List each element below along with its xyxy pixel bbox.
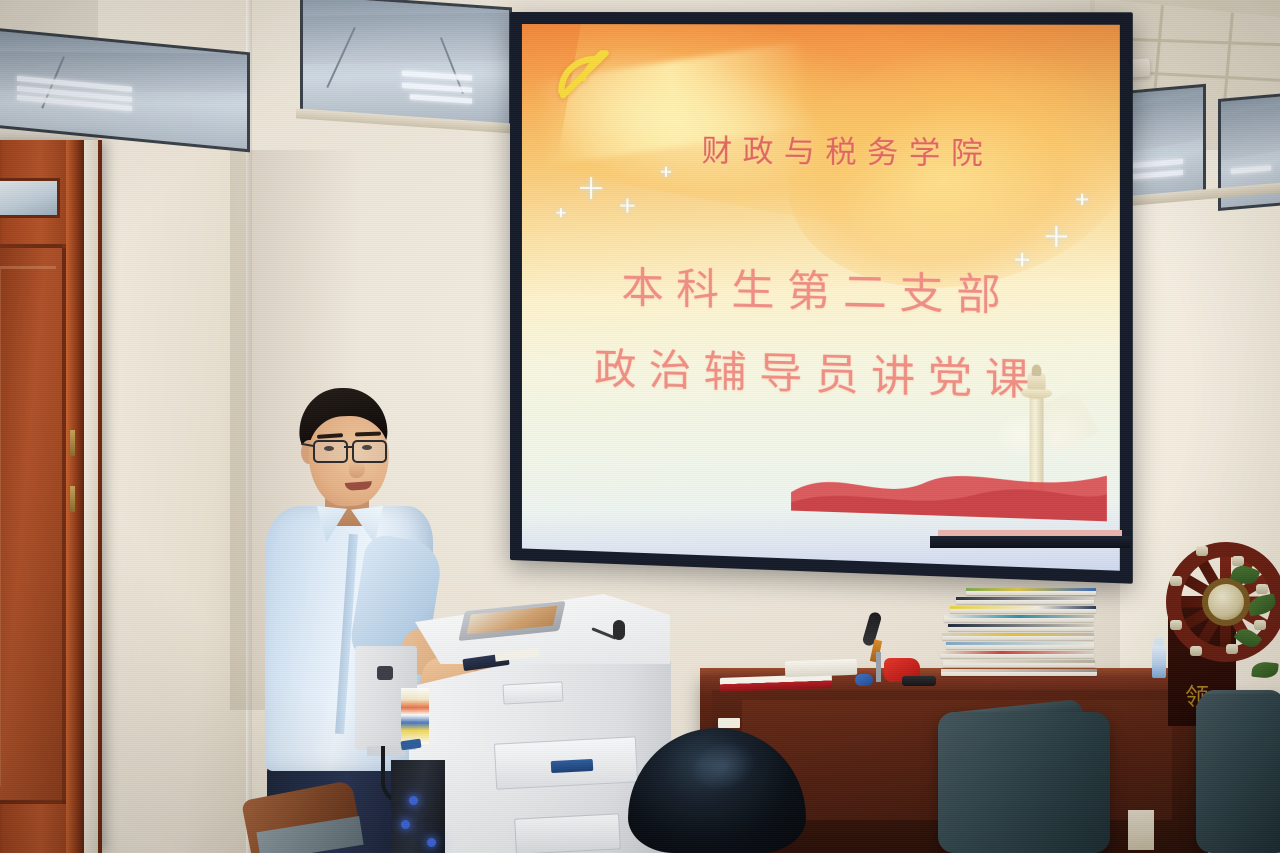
dark-desk-object	[902, 676, 936, 686]
sparkle-icon	[620, 198, 634, 212]
framed-picture-frame	[930, 536, 1130, 548]
gooseneck-microphone-icon	[613, 620, 625, 640]
equipment-sticker	[401, 688, 429, 744]
door-jamb	[84, 140, 98, 853]
door-hinge-icon	[70, 430, 75, 456]
lectern-drawer[interactable]	[503, 681, 564, 704]
cpc-hammer-sickle-emblem-icon	[554, 50, 612, 105]
desktop-pc-tower	[391, 760, 445, 853]
eyeglasses-icon	[311, 440, 389, 460]
pc-led-icon	[409, 796, 418, 805]
red-ribbon-graphic	[791, 447, 1107, 521]
monitor-hinge	[377, 666, 393, 680]
door-glass-pane	[0, 178, 60, 218]
sparkle-icon	[580, 177, 602, 199]
leather-chair	[938, 712, 1110, 853]
door-edge	[66, 140, 84, 853]
blue-desk-object	[855, 674, 873, 686]
transom-window-middle	[300, 0, 512, 127]
projection-screen: 财政与税务学院 本科生第二支部 政治辅导员讲党课	[510, 12, 1133, 584]
screen-frame: 财政与税务学院 本科生第二支部 政治辅导员讲党课	[510, 12, 1133, 584]
lectern-drawer[interactable]	[514, 813, 621, 853]
presentation-slide: 财政与税务学院 本科生第二支部 政治辅导员讲党课	[522, 24, 1120, 571]
photo-scene: 财政与税务学院 本科生第二支部 政治辅导员讲党课	[0, 0, 1280, 853]
desk-label-tag	[718, 718, 740, 728]
drawer-handle[interactable]	[551, 759, 594, 773]
sparkle-icon	[556, 208, 565, 217]
pc-led-icon	[401, 820, 410, 829]
wheel-clock-face	[1202, 578, 1250, 626]
microphone-stand	[876, 652, 881, 682]
leather-chair	[1196, 694, 1280, 853]
stacked-books	[940, 588, 1120, 680]
pc-led-icon	[427, 838, 436, 847]
wall-card	[1128, 810, 1154, 850]
slide-organization-text: 财政与税务学院	[522, 124, 1120, 175]
desk-book	[785, 659, 858, 678]
door-hinge-icon	[70, 486, 75, 512]
slide-title-line-1: 本科生第二支部	[522, 252, 1120, 326]
door-panel	[0, 244, 66, 804]
